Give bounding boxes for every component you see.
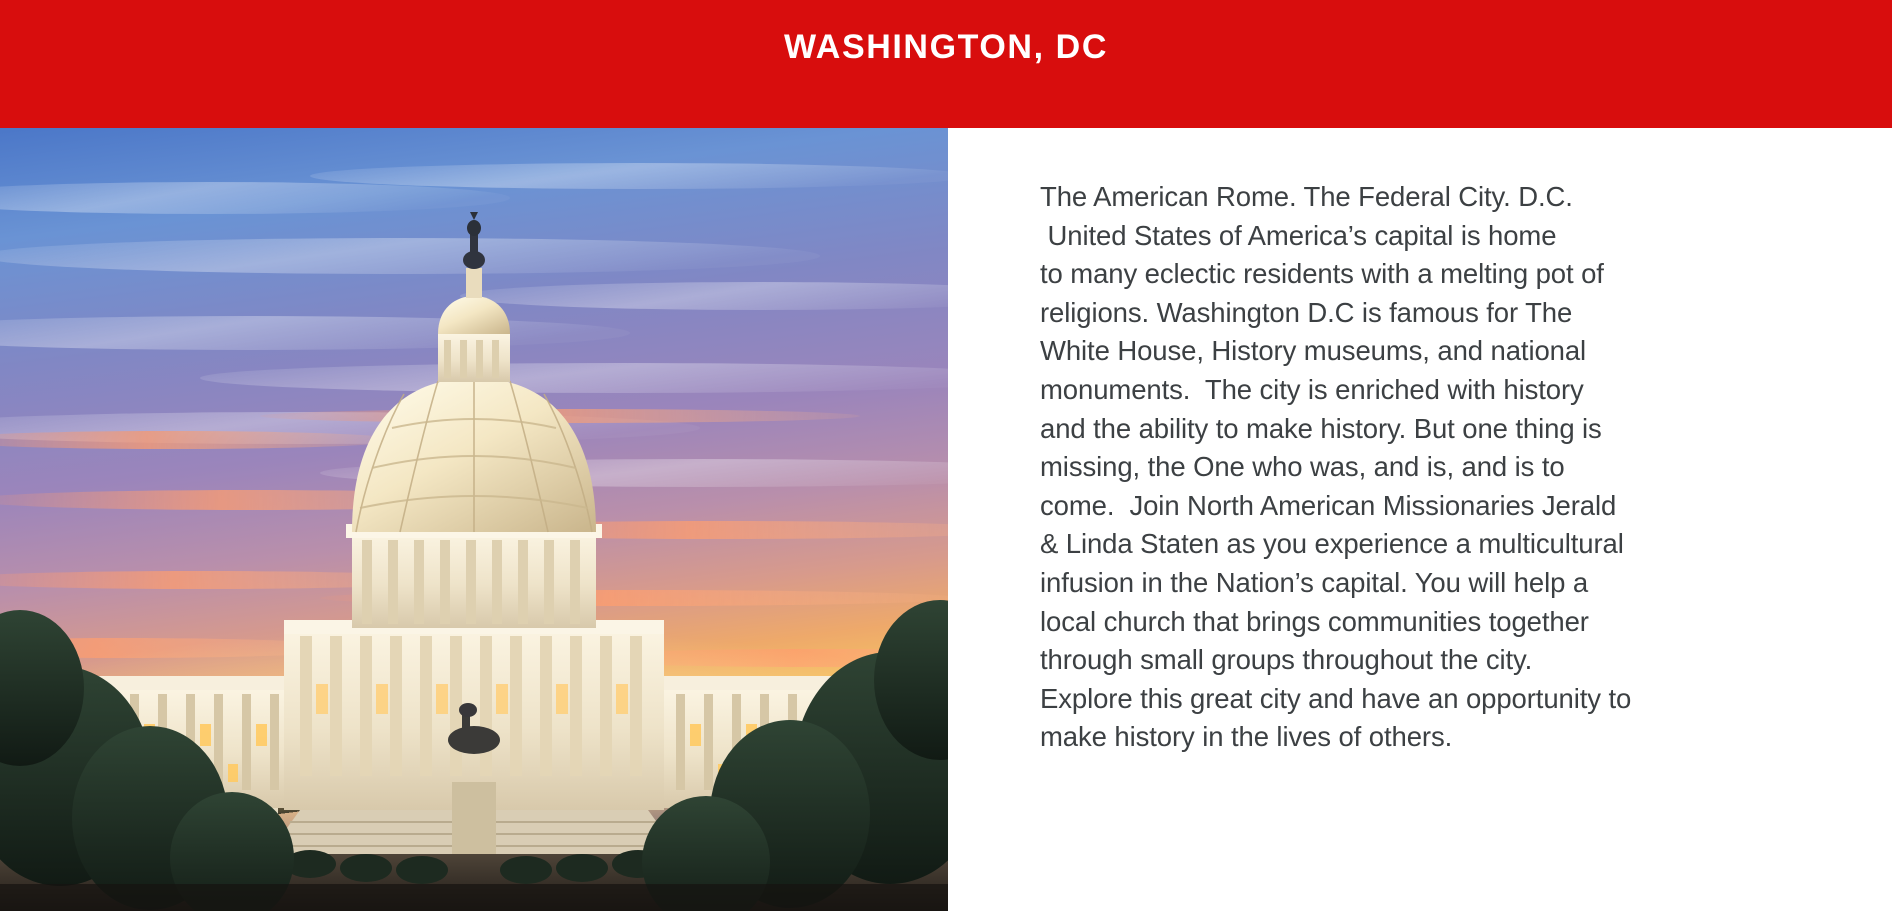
bottom-vignette: [0, 884, 948, 911]
description-paragraph: The American Rome. The Federal City. D.C…: [1040, 178, 1840, 757]
description-panel: The American Rome. The Federal City. D.C…: [948, 128, 1892, 911]
capitol-photo-illustration: [0, 128, 948, 911]
page-header-banner: WASHINGTON, DC: [0, 0, 1892, 128]
capitol-photo: [0, 128, 948, 911]
page-title: WASHINGTON, DC: [0, 26, 1892, 68]
content-row: The American Rome. The Federal City. D.C…: [0, 128, 1892, 911]
washington-dc-page: WASHINGTON, DC: [0, 0, 1892, 911]
